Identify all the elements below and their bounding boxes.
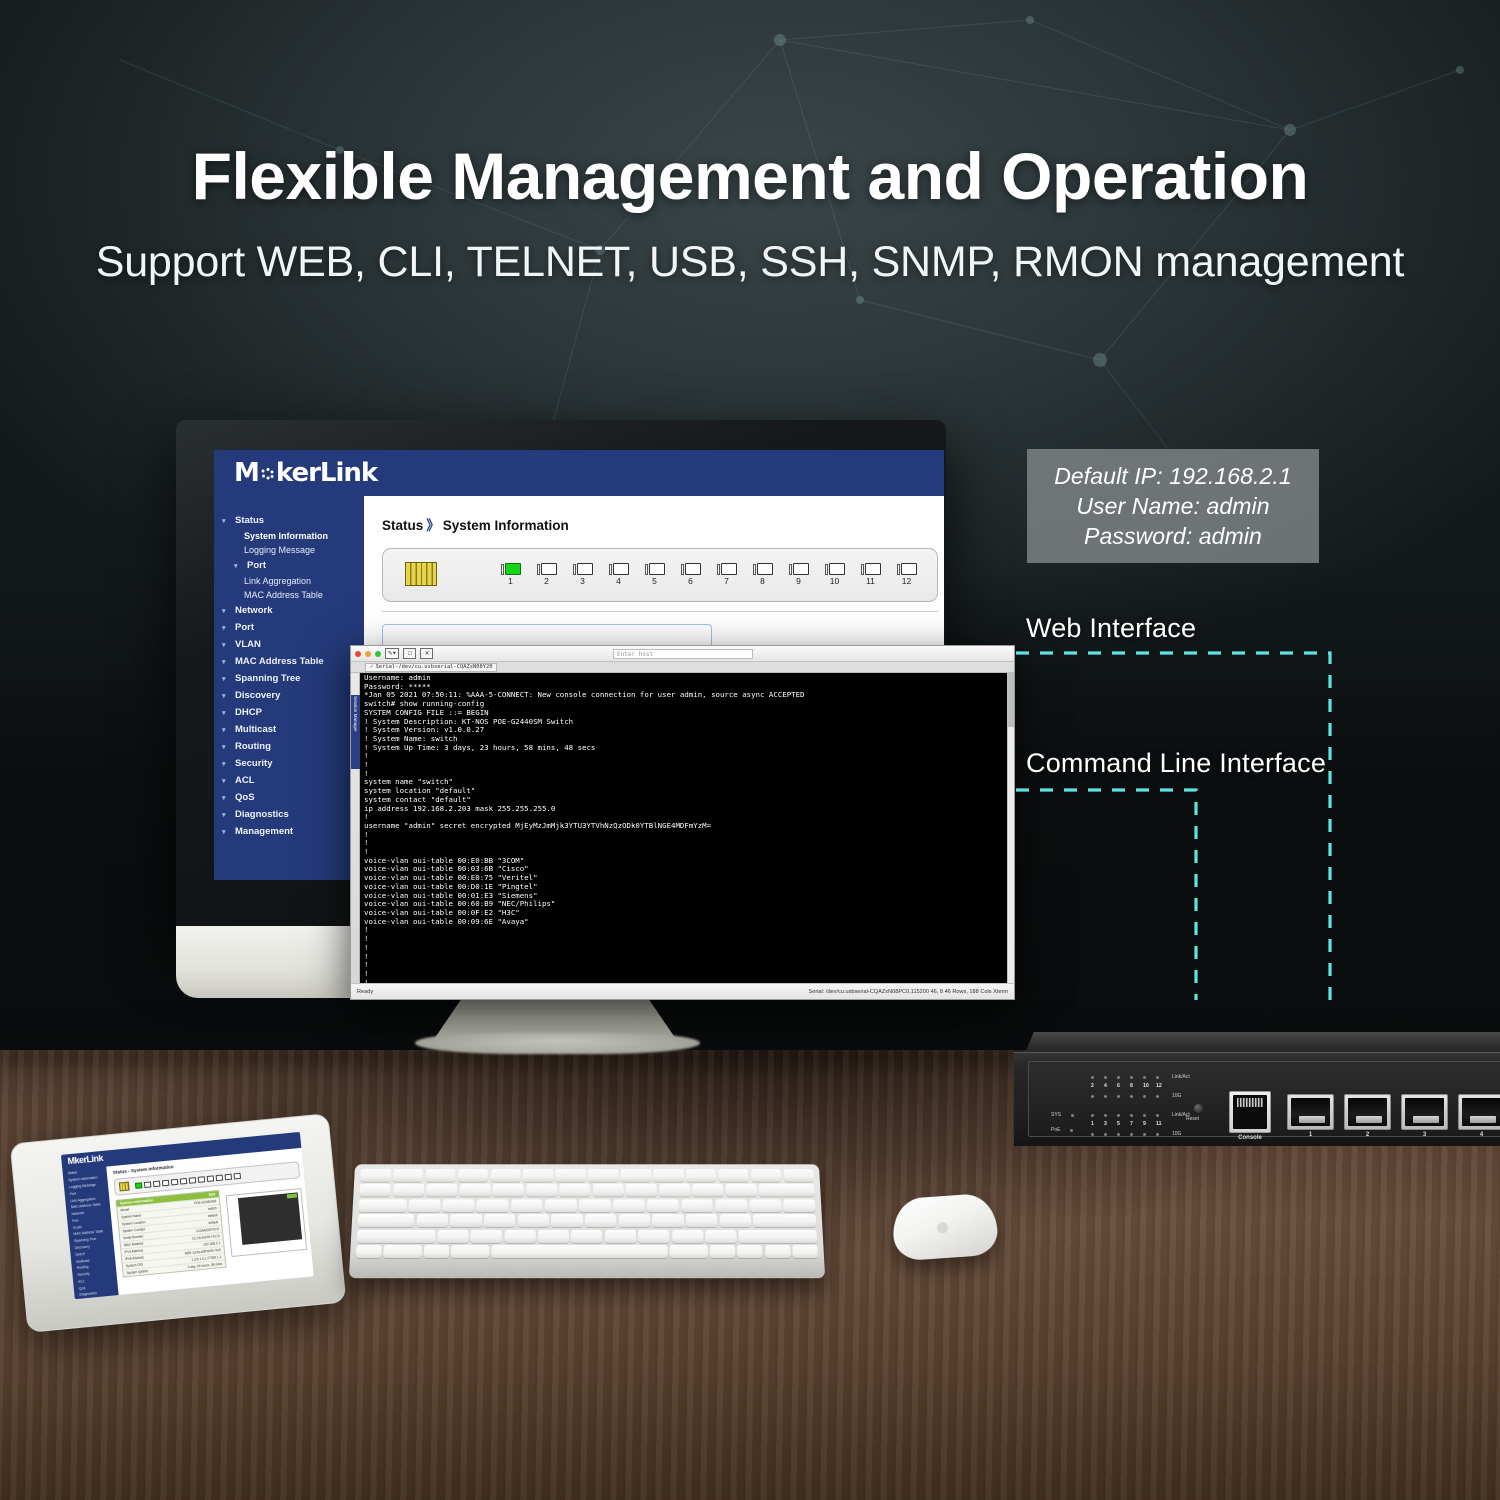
port-number-label: 8: [750, 576, 775, 586]
keyboard-row[interactable]: [359, 1184, 814, 1197]
led-row-top-linkact: Link/Act: [1091, 1074, 1190, 1080]
sfp-port-1-label: 1: [1287, 1132, 1334, 1138]
breadcrumb-root[interactable]: Status: [382, 518, 423, 533]
edit-pencil-icon[interactable]: ✎▾: [385, 648, 399, 659]
sidebar-item-dhcp[interactable]: ▾DHCP: [214, 704, 364, 721]
terminal-session-tab-label: Serial-/dev/cu.usbserial-CQAZxN08Y20: [376, 663, 493, 671]
sidebar-item-port-status[interactable]: ▾ Port: [214, 557, 364, 574]
tablet-port-9[interactable]: [207, 1175, 215, 1182]
led-num: 3: [1104, 1121, 1107, 1127]
port-jack-icon: [861, 563, 883, 575]
keyboard-row[interactable]: [358, 1199, 815, 1212]
terminal-output[interactable]: Username: admin Password: ***** *Jan 05 …: [360, 673, 1014, 983]
tablet-port-4[interactable]: [162, 1179, 170, 1186]
status-ready-label: Ready: [357, 989, 373, 995]
tablet-port-6[interactable]: [180, 1177, 188, 1184]
sidebar-item-mac-address-table[interactable]: ▾MAC Address Table: [214, 653, 364, 670]
led-num: 10: [1143, 1083, 1146, 1089]
tablet-table-edit-button[interactable]: Edit: [208, 1192, 215, 1197]
port-number-label: 5: [642, 576, 667, 586]
tablet-device: MkerLink StatusSystem InformationLogging…: [10, 1113, 347, 1333]
port-9[interactable]: 9: [789, 563, 811, 586]
tablet-row-value: 3 day, 23 hours, 58 mins: [187, 1262, 222, 1269]
webui-header: MkerLink: [214, 450, 944, 496]
brand-logo-suffix: kerLink: [276, 458, 377, 488]
connected-check-icon: ✓: [370, 663, 374, 671]
brand-logo: MkerLink: [234, 458, 377, 488]
console-port-label: Console: [1227, 1135, 1273, 1141]
brand-logo-prefix: M: [234, 458, 259, 488]
terminal-titlebar[interactable]: ✎▾ ☐ ✕ Enter host: [351, 646, 1014, 662]
led-num: 1: [1091, 1121, 1094, 1127]
port-number-label: 6: [678, 576, 703, 586]
sidebar-item-system-information[interactable]: System Information: [214, 529, 364, 543]
led-num: 4: [1104, 1083, 1107, 1089]
sidebar-item-routing[interactable]: ▾Routing: [214, 738, 364, 755]
port-number-label: 12: [894, 576, 919, 586]
chevron-down-icon: ▾: [222, 760, 230, 768]
sidebar-item-acl[interactable]: ▾ACL: [214, 772, 364, 789]
sidebar-item-mac-address-table-status[interactable]: MAC Address Table: [214, 588, 364, 602]
divider: [382, 611, 938, 612]
sidebar-item-label: Routing: [235, 741, 271, 752]
chevron-down-icon: ▾: [222, 743, 230, 751]
chevron-down-icon: ▾: [222, 675, 230, 683]
console-port[interactable]: [1229, 1091, 1271, 1133]
sfp-port-1[interactable]: [1287, 1094, 1334, 1130]
port-7[interactable]: 7: [717, 563, 739, 586]
sidebar-item-label: ACL: [235, 775, 255, 786]
port-3[interactable]: 3: [573, 563, 595, 586]
port-11[interactable]: 11: [861, 563, 883, 586]
switch-front-panel: Link/Act 2 4 6 8 10 12 10G SYS PoE: [1014, 1052, 1500, 1146]
brand-logo-dots-icon: [259, 460, 276, 477]
port-number-label: 1: [498, 576, 523, 586]
sfp-vent-grid-icon: [405, 562, 437, 586]
sidebar-item-label: Network: [235, 605, 272, 616]
sidebar-item-label: VLAN: [235, 639, 261, 650]
status-connection-info: Serial: /dev/cu.usbserial-CQAZxN08PC0,11…: [808, 989, 1008, 995]
port-jack-icon: [789, 563, 811, 575]
led-num: 8: [1130, 1083, 1133, 1089]
led-num: 11: [1156, 1121, 1159, 1127]
close-icon[interactable]: [355, 651, 361, 657]
tablet-port-3[interactable]: [153, 1180, 161, 1187]
port-6[interactable]: 6: [681, 563, 703, 586]
tablet-table-rows: ModelPOE-G2440SMSystem NameswitchSystem …: [117, 1197, 225, 1276]
port-jack-icon: [825, 563, 847, 575]
network-switch-device: Link/Act 2 4 6 8 10 12 10G SYS PoE: [1014, 1032, 1500, 1150]
sidebar-item-label: Diagnostics: [235, 809, 289, 820]
chevron-down-icon: ▾: [222, 811, 230, 819]
port-jack-icon: [537, 563, 559, 575]
tablet-system-info-table: System Information Edit ModelPOE-G2440SM…: [115, 1190, 226, 1278]
sidebar-item-port[interactable]: ▾Port: [214, 619, 364, 636]
default-ip-line: Default IP: 192.168.2.1: [1054, 463, 1292, 490]
breadcrumb: Status》System Information: [382, 514, 944, 534]
chevron-down-icon: ▾: [222, 692, 230, 700]
default-password-line: Password: admin: [1084, 523, 1262, 550]
reset-label: Reset: [1186, 1116, 1199, 1122]
tablet-screen[interactable]: MkerLink StatusSystem InformationLogging…: [61, 1132, 314, 1299]
tablet-port-11[interactable]: [225, 1173, 233, 1180]
disconnect-x-icon[interactable]: ✕: [420, 648, 433, 659]
led-row-odd-numbers: 1 3 5 7 9 11: [1091, 1121, 1159, 1127]
sidebar-item-multicast[interactable]: ▾Multicast: [214, 721, 364, 738]
tablet-port-7[interactable]: [189, 1177, 197, 1184]
chevron-down-icon: ▾: [234, 562, 242, 570]
port-8[interactable]: 8: [753, 563, 775, 586]
chevron-down-icon: ▾: [222, 828, 230, 836]
host-input[interactable]: Enter host: [613, 649, 753, 659]
port-jack-icon: [609, 563, 631, 575]
sidebar-item-label: Status: [235, 515, 264, 526]
tablet-port-10[interactable]: [216, 1174, 224, 1181]
port-number-label: 3: [570, 576, 595, 586]
chevron-down-icon: ▾: [222, 726, 230, 734]
sidebar-item-status[interactable]: ▾ Status: [214, 512, 364, 529]
led-label-10g-bottom: 10G: [1172, 1131, 1181, 1137]
session-manager-label: Session Manager: [353, 696, 358, 732]
maximize-icon[interactable]: [375, 651, 381, 657]
port-5[interactable]: 5: [645, 563, 667, 586]
chevron-down-icon: ▾: [222, 517, 230, 525]
callout-label-command-line-interface: Command Line Interface: [1026, 748, 1326, 779]
monitor-base: [415, 1032, 700, 1054]
port-jack-icon: [753, 563, 775, 575]
tablet-port-12[interactable]: [233, 1172, 241, 1179]
sidebar-item-label: DHCP: [235, 707, 262, 718]
sidebar-item-label: Multicast: [235, 724, 276, 735]
led-label-poe: PoE: [1051, 1127, 1060, 1133]
sidebar-item-label: Port: [235, 622, 254, 633]
chevron-down-icon: ▾: [222, 709, 230, 717]
minimize-icon[interactable]: [365, 651, 371, 657]
led-row-bottom-linkact: Link/Act: [1091, 1112, 1190, 1118]
switch-panel-inset: Link/Act 2 4 6 8 10 12 10G SYS PoE: [1028, 1061, 1500, 1137]
sfp-port-4[interactable]: [1458, 1094, 1500, 1130]
sidebar-item-link-aggregation[interactable]: Link Aggregation: [214, 574, 364, 588]
keyboard-row[interactable]: [357, 1229, 817, 1242]
session-manager-tab[interactable]: Session Manager: [351, 695, 360, 769]
sidebar-item-network[interactable]: ▾Network: [214, 602, 364, 619]
terminal-console-text: Username: admin Password: ***** *Jan 05 …: [364, 674, 1014, 983]
sidebar-item-management[interactable]: ▾Management: [214, 823, 364, 840]
chevron-down-icon: ▾: [222, 641, 230, 649]
session-manager-rail[interactable]: Session Manager: [351, 673, 360, 983]
tablet-port-8[interactable]: [198, 1176, 206, 1183]
keyboard-row-bottom[interactable]: [356, 1245, 818, 1258]
tablet-row-label: Model: [120, 1208, 129, 1213]
sidebar-item-diagnostics[interactable]: ▾Diagnostics: [214, 806, 364, 823]
sys-led-group: SYS: [1051, 1112, 1074, 1118]
sfp-port-3-label: 3: [1401, 1132, 1448, 1138]
sidebar-item-security[interactable]: ▾Security: [214, 755, 364, 772]
chevron-down-icon: ▾: [222, 794, 230, 802]
default-username-line: User Name: admin: [1076, 493, 1269, 520]
chevron-down-icon: ▾: [222, 624, 230, 632]
sidebar-item-label: Port: [247, 560, 266, 571]
port-1[interactable]: 1: [501, 563, 523, 586]
port-number-label: 2: [534, 576, 559, 586]
led-num: 5: [1117, 1121, 1120, 1127]
sidebar-item-vlan[interactable]: ▾VLAN: [214, 636, 364, 653]
led-label-sys: SYS: [1051, 1112, 1061, 1118]
port-number-label: 7: [714, 576, 739, 586]
port-4[interactable]: 4: [609, 563, 631, 586]
sidebar-item-label: Management: [235, 826, 293, 837]
page-subheadline: Support WEB, CLI, TELNET, USB, SSH, SNMP…: [0, 238, 1500, 287]
sidebar-item-qos[interactable]: ▾QoS: [214, 789, 364, 806]
wireless-mouse[interactable]: [891, 1192, 999, 1261]
tablet-chart-plot: [238, 1192, 302, 1245]
keyboard-row[interactable]: [358, 1214, 817, 1227]
sidebar-item-label: Spanning Tree: [235, 673, 300, 684]
terminal-statusbar: Ready Serial: /dev/cu.usbserial-CQAZxN08…: [351, 983, 1014, 999]
led-num: 12: [1156, 1083, 1159, 1089]
terminal-window[interactable]: ✎▾ ☐ ✕ Enter host ✓ Serial-/dev/cu.usbse…: [350, 645, 1015, 1000]
breadcrumb-separator-icon: 》: [426, 518, 440, 533]
port-10[interactable]: 10: [825, 563, 847, 586]
tablet-row-value: switch: [208, 1206, 217, 1211]
terminal-session-tab[interactable]: ✓ Serial-/dev/cu.usbserial-CQAZxN08Y20: [365, 663, 497, 672]
sidebar-item-label: Discovery: [235, 690, 280, 701]
port-list: 123456789101112: [501, 563, 919, 586]
sidebar-item-label: MAC Address Table: [235, 656, 324, 667]
port-number-label: 11: [858, 576, 883, 586]
port-jack-icon: [573, 563, 595, 575]
led-num: 9: [1143, 1121, 1146, 1127]
sfp-port-3[interactable]: [1401, 1094, 1448, 1130]
sidebar-item-logging-message[interactable]: Logging Message: [214, 543, 364, 557]
port-jack-icon: [681, 563, 703, 575]
wireless-keyboard[interactable]: [349, 1164, 825, 1278]
tablet-traffic-chart: [226, 1188, 308, 1257]
page-headline: Flexible Management and Operation: [0, 138, 1500, 214]
led-num: 2: [1091, 1083, 1094, 1089]
scrollbar-thumb[interactable]: [1008, 673, 1014, 727]
split-view-icon[interactable]: ☐: [403, 648, 416, 659]
poe-led-group: PoE: [1051, 1127, 1073, 1133]
front-panel-port-diagram: 123456789101112: [382, 548, 938, 602]
led-row-top-10g: 10G: [1091, 1093, 1181, 1099]
tablet-sfp-vent-icon: [119, 1182, 130, 1192]
chevron-down-icon: ▾: [222, 777, 230, 785]
led-label-10g-top: 10G: [1172, 1093, 1181, 1099]
led-num: 7: [1130, 1121, 1133, 1127]
callout-label-web-interface: Web Interface: [1026, 613, 1196, 644]
chevron-down-icon: ▾: [222, 658, 230, 666]
chevron-down-icon: ▾: [222, 607, 230, 615]
port-jack-icon: [645, 563, 667, 575]
sidebar-item-discovery[interactable]: ▾Discovery: [214, 687, 364, 704]
terminal-tabbar[interactable]: ✓ Serial-/dev/cu.usbserial-CQAZxN08Y20: [351, 662, 1014, 673]
tablet-main: Status - System Information System Infor…: [106, 1148, 313, 1295]
sidebar-item-spanning-tree[interactable]: ▾Spanning Tree: [214, 670, 364, 687]
sidebar-item-label: Security: [235, 758, 273, 769]
port-2[interactable]: 2: [537, 563, 559, 586]
port-12[interactable]: 12: [897, 563, 919, 586]
terminal-scrollbar[interactable]: [1007, 673, 1014, 983]
keyboard-row[interactable]: [360, 1169, 814, 1182]
tablet-port-1[interactable]: [135, 1182, 143, 1189]
sfp-port-2[interactable]: [1344, 1094, 1391, 1130]
tablet-row-label: System Uptime: [126, 1269, 148, 1275]
port-number-label: 4: [606, 576, 631, 586]
led-row-bottom-10g: 10G: [1091, 1131, 1181, 1137]
port-number-label: 9: [786, 576, 811, 586]
reset-button[interactable]: [1194, 1104, 1203, 1113]
breadcrumb-current: System Information: [443, 518, 569, 533]
port-number-label: 10: [822, 576, 847, 586]
tablet-port-5[interactable]: [171, 1178, 179, 1185]
led-label-linkact-top: Link/Act: [1172, 1074, 1190, 1080]
led-row-even-numbers: 2 4 6 8 10 12: [1091, 1083, 1159, 1089]
default-credentials-box: Default IP: 192.168.2.1 User Name: admin…: [1027, 449, 1319, 563]
webui-sidebar[interactable]: ▾ Status System Information Logging Mess…: [214, 496, 364, 880]
port-jack-icon: [717, 563, 739, 575]
tablet-port-2[interactable]: [144, 1181, 152, 1188]
sfp-port-2-label: 2: [1344, 1132, 1391, 1138]
port-jack-icon: [501, 563, 523, 575]
sfp-port-4-label: 4: [1458, 1132, 1500, 1138]
sidebar-item-label: QoS: [235, 792, 255, 803]
led-num: 6: [1117, 1083, 1120, 1089]
port-jack-icon: [897, 563, 919, 575]
